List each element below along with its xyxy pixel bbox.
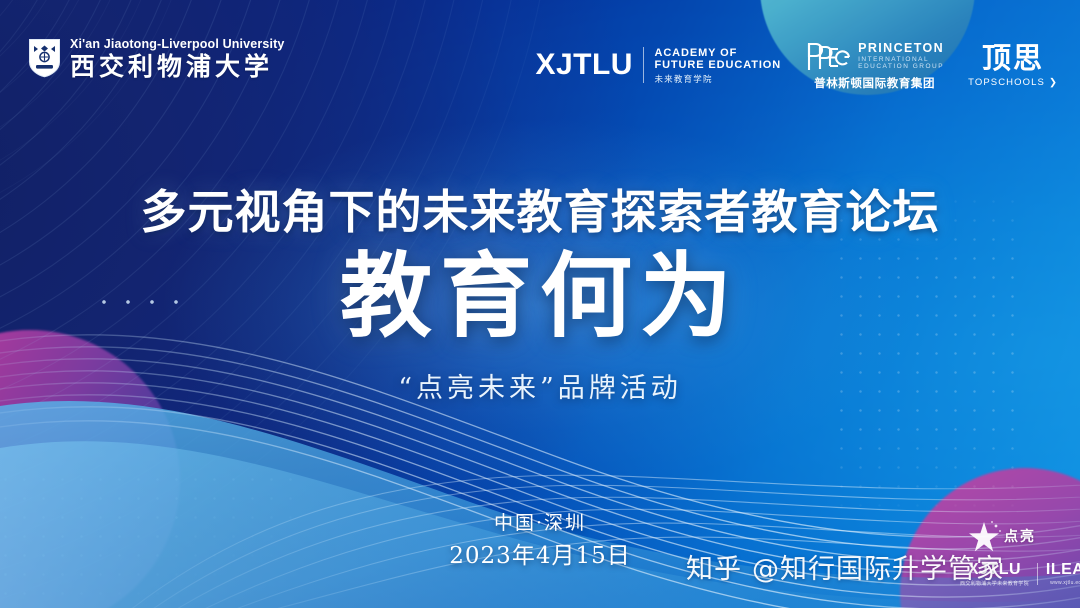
forum-title: 多元视角下的未来教育探索者教育论坛 [0, 176, 1080, 242]
poster-copy: 多元视角下的未来教育探索者教育论坛 教育何为 “点亮未来”品牌活动 中国·深圳 … [0, 0, 1080, 608]
badge-chinese: 点亮 [1004, 526, 1036, 546]
headline: 教育何为 [0, 248, 1080, 345]
venue-text: 中国·深圳 [0, 508, 1080, 535]
sub-brand-line: “点亮未来”品牌活动 [0, 366, 1080, 405]
event-poster: Xi'an Jiaotong-Liverpool University 西交利物… [0, 0, 1080, 608]
watermark-platform: 知乎 [686, 547, 742, 586]
zhihu-watermark: 知乎 @知行国际升学管家 [686, 547, 1004, 586]
badge-ilead-mark: ILEAD [1046, 562, 1080, 578]
watermark-handle: @知行国际升学管家 [752, 547, 1004, 586]
divider [1037, 563, 1038, 585]
badge-ilead-sub: www.xjtlu.edu.cn [1050, 580, 1080, 586]
